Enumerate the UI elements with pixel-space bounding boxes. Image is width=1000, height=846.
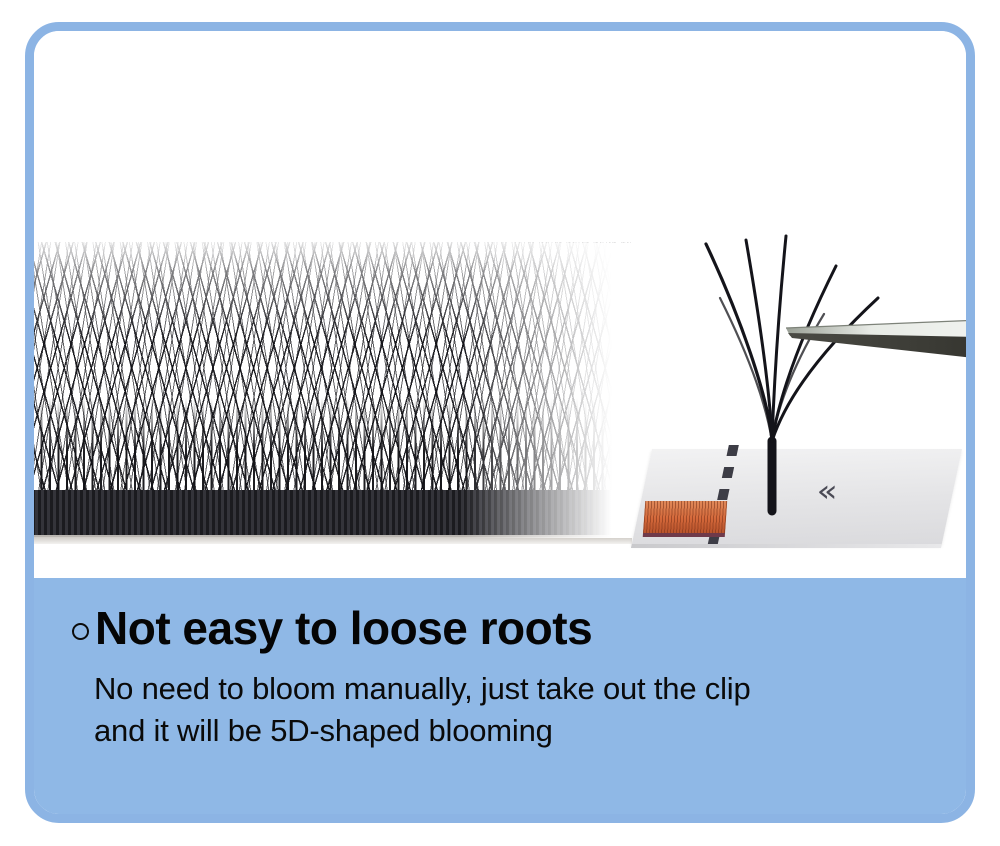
body-text-line-1: No need to bloom manually, just take out… [94,668,936,710]
body-text: No need to bloom manually, just take out… [94,668,936,752]
body-text-line-2: and it will be 5D-shaped blooming [94,710,936,752]
product-feature-card: « [25,22,975,823]
bullet-circle-icon [72,623,89,640]
tweezers-icon [784,316,966,386]
headline-row: Not easy to loose roots [72,604,936,652]
card-edge [631,544,942,548]
headline-text: Not easy to loose roots [95,604,592,652]
caption-panel: Not easy to loose roots No need to bloom… [34,578,966,814]
lash-strip [34,243,632,538]
lash-strip-fade [462,243,632,538]
product-photo: « [34,31,966,596]
